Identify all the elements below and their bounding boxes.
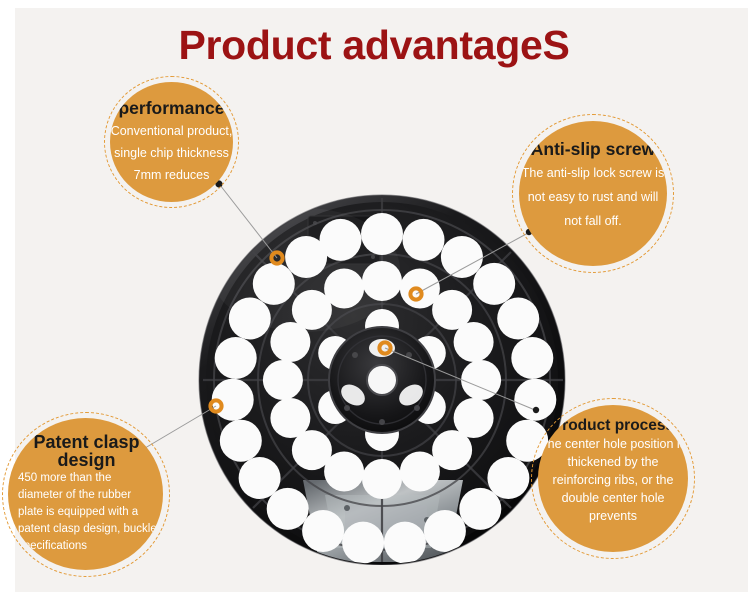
callout-patent-clasp-design[interactable]: Patent clasp design 450 more than the di… [8, 418, 163, 570]
callout-anti-slip-screw[interactable]: Anti-slip screw The anti-slip lock screw… [519, 121, 667, 266]
page-title: Product advantageS [0, 22, 748, 69]
callout-performance[interactable]: performance Conventional product, single… [110, 82, 233, 202]
callout-body-performance: Conventional product, single chip thickn… [110, 118, 233, 186]
infographic-canvas: Product advantageS [0, 0, 748, 592]
callout-heading-anti-slip-screw: Anti-slip screw [519, 121, 667, 159]
callout-body-anti-slip-screw: The anti-slip lock screw is not easy to … [519, 159, 667, 233]
callout-heading-patent-clasp-design: Patent clasp design [8, 418, 163, 469]
callout-body-patent-clasp-design: 450 more than the diameter of the rubber… [8, 469, 163, 555]
callout-body-product-process: The center hole position is thickened by… [538, 434, 688, 525]
callout-product-process[interactable]: Product process The center hole position… [538, 405, 688, 552]
callout-heading-product-process: Product process [538, 405, 688, 434]
callout-heading-performance: performance [110, 82, 233, 118]
product-image [195, 190, 570, 565]
